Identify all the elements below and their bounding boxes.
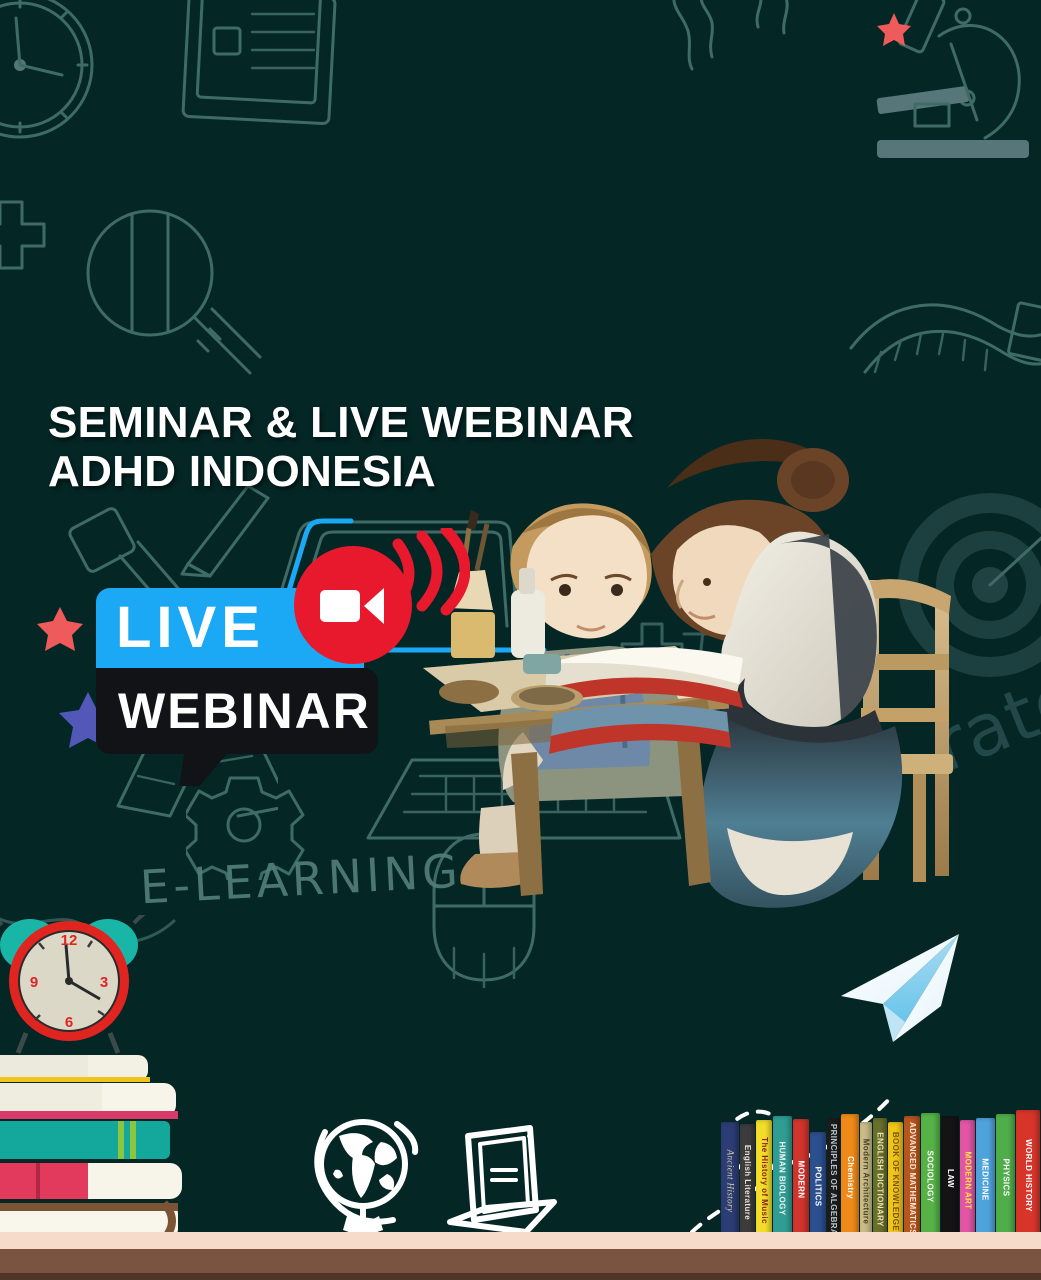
plus-doodle-icon xyxy=(0,198,48,278)
book-spine-title: SOCIOLOGY xyxy=(926,1150,935,1202)
book-spine: BOOK OF KNOWLEDGE xyxy=(888,1122,903,1240)
magnifier-doodle-icon xyxy=(80,205,270,385)
book-spine: HUMAN BIOLOGY xyxy=(773,1116,792,1240)
wooden-shelf xyxy=(0,1232,1041,1280)
shelf-shadow xyxy=(0,1273,1041,1280)
alarm-clock-icon: 12 3 6 9 xyxy=(0,915,178,1053)
clock-doodle-icon xyxy=(0,0,140,170)
book-spine-title: English Literature xyxy=(743,1144,752,1219)
headline-line-2: ADHD INDONESIA xyxy=(48,447,634,496)
camera-circle xyxy=(294,546,412,664)
speech-bubble-tail xyxy=(180,752,229,786)
book-spine: Ancient History xyxy=(721,1122,739,1240)
clipboard-doodle-icon xyxy=(178,0,348,128)
book-spine: PRINCIPLES OF ALGEBRA xyxy=(827,1118,840,1240)
book-spine-title: BOOK OF KNOWLEDGE xyxy=(891,1131,900,1230)
book-spine: The History of Music xyxy=(756,1120,772,1240)
book-spine: Modern Architecture xyxy=(860,1122,872,1240)
paper-plane-icon xyxy=(835,930,965,1050)
page-title: SEMINAR & LIVE WEBINAR ADHD INDONESIA xyxy=(48,398,634,497)
svg-text:6: 6 xyxy=(65,1014,73,1031)
book-spine-title: ENGLISH DICTIONARY xyxy=(876,1132,885,1226)
book-spine: ENGLISH DICTIONARY xyxy=(873,1118,887,1240)
book-spine-title: Modern Architecture xyxy=(862,1138,871,1224)
book-spine-title: MODERN ART xyxy=(963,1151,972,1209)
brain-doodle-icon xyxy=(660,0,860,95)
book-spine-title: Ancient History xyxy=(725,1150,735,1213)
book-spine-title: HUMAN BIOLOGY xyxy=(778,1141,787,1215)
book-spine-title: POLITICS xyxy=(814,1166,823,1206)
webinar-poster: E-LEARNING rateg SEMINAR & LIVE WEBINAR … xyxy=(0,0,1041,1280)
book-spine-title: PHYSICS xyxy=(1001,1158,1010,1196)
book-spine-title: The History of Music xyxy=(760,1137,769,1224)
book-spine: Chemistry xyxy=(841,1114,859,1240)
alarm-clock-and-book-stack: 12 3 6 9 xyxy=(0,915,258,1280)
svg-text:3: 3 xyxy=(100,974,108,991)
globe-icon xyxy=(305,1112,425,1242)
book-spine: LAW xyxy=(941,1116,959,1240)
video-camera-icon xyxy=(320,584,386,626)
book-spine-title: WORLD HISTORY xyxy=(1024,1139,1033,1212)
book-spine: MODERN ART xyxy=(960,1120,975,1240)
live-webinar-badge[interactable]: LIVE WEBINAR xyxy=(96,588,416,768)
gear-doodle-icon xyxy=(186,770,306,880)
star-red-icon xyxy=(36,605,84,653)
headline-line-1: SEMINAR & LIVE WEBINAR xyxy=(48,398,634,447)
webinar-bar: WEBINAR xyxy=(96,668,378,754)
book-spine: WORLD HISTORY xyxy=(1016,1110,1040,1240)
book-stack-icon xyxy=(0,1055,182,1239)
shelf-body xyxy=(0,1249,1041,1273)
star-red-top-icon xyxy=(876,12,912,48)
book-spine: PHYSICS xyxy=(996,1114,1015,1240)
bookshelf-row: Ancient HistoryEnglish LiteratureThe His… xyxy=(721,1110,1041,1240)
book-spine: MODERN xyxy=(793,1119,809,1240)
book-spine: MEDICINE xyxy=(976,1118,995,1240)
webinar-label: WEBINAR xyxy=(118,686,371,736)
book-spine-title: PRINCIPLES OF ALGEBRA xyxy=(829,1123,838,1234)
book-spine: SOCIOLOGY xyxy=(921,1113,940,1240)
svg-text:9: 9 xyxy=(30,974,38,991)
book-spine-title: MEDICINE xyxy=(981,1158,990,1200)
book-spine: English Literature xyxy=(740,1124,755,1240)
book-spine-title: Chemistry xyxy=(846,1156,855,1199)
shelf-top-edge xyxy=(0,1232,1041,1249)
book-spine-title: LAW xyxy=(946,1169,955,1188)
book-spine-title: MODERN xyxy=(797,1161,806,1199)
book-spine: POLITICS xyxy=(810,1132,826,1240)
book-spine-title: ADVANCED MATHEMATICS xyxy=(908,1122,917,1235)
live-label: LIVE xyxy=(116,599,265,657)
book-spine: ADVANCED MATHEMATICS xyxy=(904,1116,920,1240)
ereader-icon xyxy=(440,1122,560,1242)
svg-text:12: 12 xyxy=(61,932,78,949)
